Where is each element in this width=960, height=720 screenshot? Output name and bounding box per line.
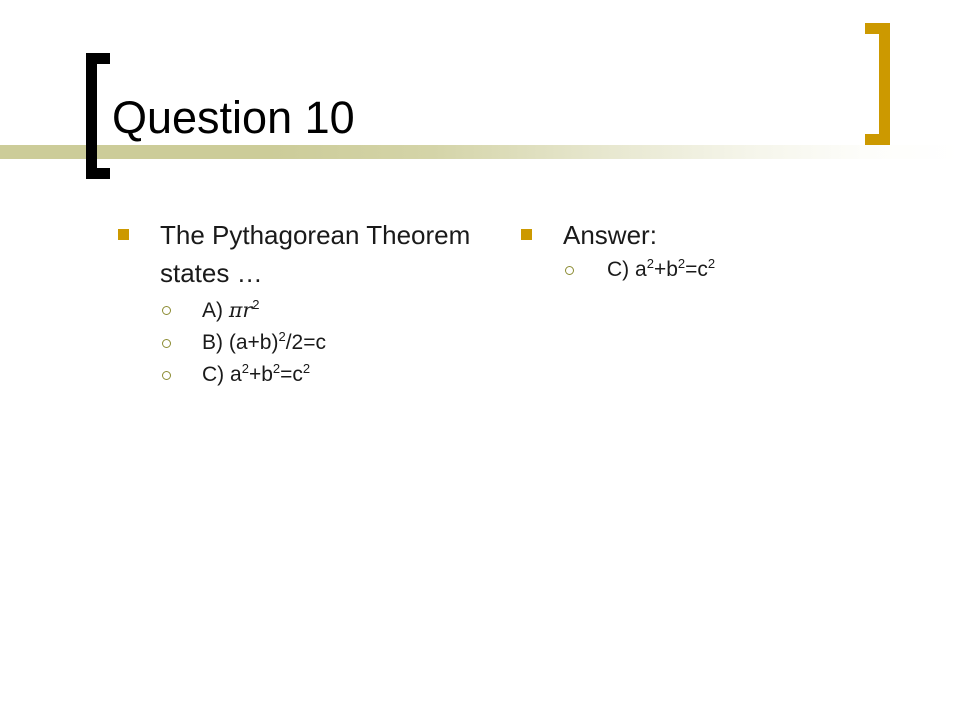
list-item: The Pythagorean Theorem states … A) πr2 … [112,216,492,391]
list-item: C) a2+b2=c2 [160,359,492,391]
right-bullet-list: Answer: C) a2+b2=c2 [515,216,915,286]
left-bullet-list: The Pythagorean Theorem states … A) πr2 … [112,216,492,391]
circle-bullet-icon [565,266,574,275]
right-sub-list-wrapper: C) a2+b2=c2 [563,254,915,286]
left-black-bracket-icon [86,53,110,179]
right-content-column: Answer: C) a2+b2=c2 [515,216,915,288]
right-gold-bracket-icon [865,23,890,145]
left-choice-list: A) πr2 B) (a+b)2/2=c C) a2+b2=c2 [160,294,492,391]
list-item: A) πr2 [160,294,492,327]
list-item: C) a2+b2=c2 [563,254,915,286]
left-main-bullet-text: The Pythagorean Theorem states … [160,220,470,288]
square-bullet-icon [521,229,532,240]
choice-a-base: πr [229,298,252,322]
circle-bullet-icon [162,339,171,348]
answer-label: Answer: [563,220,657,250]
page-title: Question 10 [112,92,355,144]
choice-label-b: B) [202,331,223,354]
choice-label-a: A) [202,299,223,322]
answer-choice-label: C) [607,258,629,281]
circle-bullet-icon [162,306,171,315]
square-bullet-icon [118,229,129,240]
left-sub-list-wrapper: A) πr2 B) (a+b)2/2=c C) a2+b2=c2 [160,294,492,391]
title-decoration-band [0,145,960,159]
left-content-column: The Pythagorean Theorem states … A) πr2 … [112,216,492,393]
circle-bullet-icon [162,371,171,380]
list-item: Answer: C) a2+b2=c2 [515,216,915,286]
answer-choice-list: C) a2+b2=c2 [563,254,915,286]
choice-a-exponent: 2 [252,297,259,312]
choice-label-c: C) [202,363,224,386]
list-item: B) (a+b)2/2=c [160,327,492,359]
slide: Question 10 The Pythagorean Theorem stat… [0,0,960,720]
